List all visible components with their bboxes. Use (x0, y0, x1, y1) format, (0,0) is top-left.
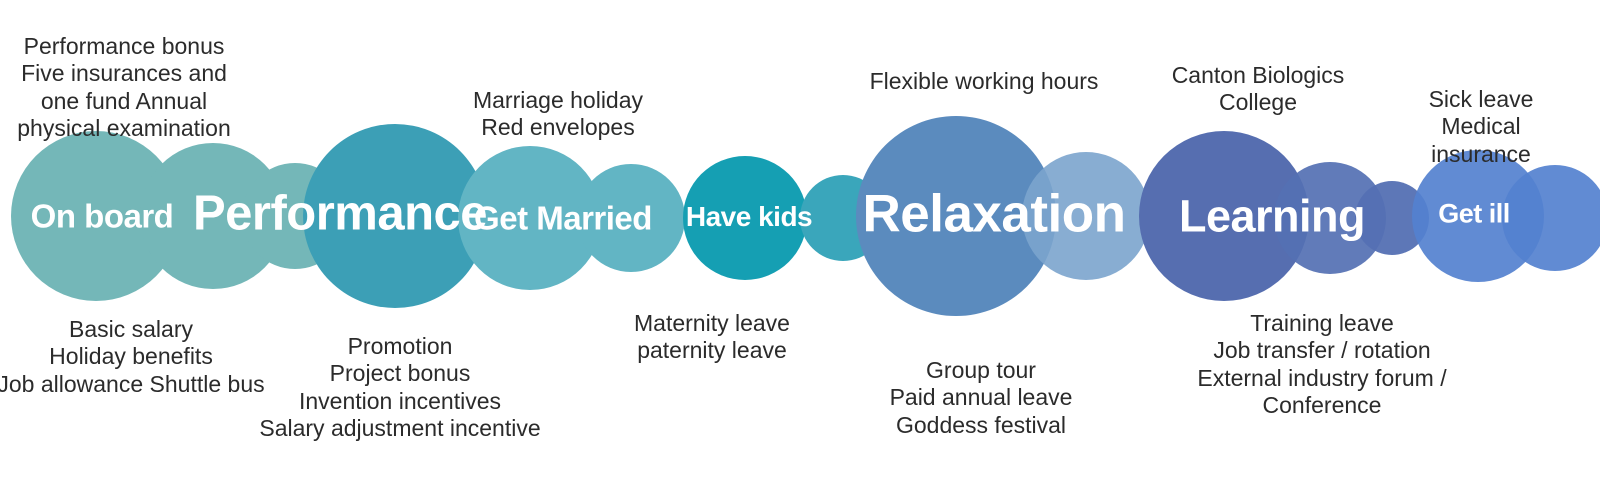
infographic-canvas: On boardPerformanceGet MarriedHave kidsR… (0, 0, 1600, 480)
stage-label-on-board: On board (31, 200, 174, 233)
note-performance-below: Promotion Project bonus Invention incent… (259, 333, 540, 442)
note-get-ill-above: Sick leave Medical insurance (1422, 86, 1541, 168)
note-relaxation-above: Flexible working hours (870, 68, 1099, 95)
stage-label-learning: Learning (1179, 194, 1365, 239)
note-learning-above: Canton Biologics College (1172, 62, 1345, 117)
stage-label-have-kids: Have kids (686, 203, 812, 231)
bubble-get-ill-small[interactable] (1502, 165, 1600, 271)
stage-label-get-married: Get Married (474, 202, 652, 235)
note-on-board-below: Basic salary Holiday benefits Job allowa… (0, 316, 265, 398)
note-learning-below: Training leave Job transfer / rotation E… (1183, 310, 1461, 419)
note-get-married-above: Marriage holiday Red envelopes (473, 87, 643, 142)
note-have-kids-below: Maternity leave paternity leave (634, 310, 790, 365)
note-on-board-above: Performance bonus Five insurances and on… (17, 33, 231, 142)
stage-label-get-ill: Get ill (1438, 201, 1510, 228)
note-relaxation-below: Group tour Paid annual leave Goddess fes… (890, 357, 1073, 439)
stage-label-relaxation: Relaxation (862, 188, 1125, 241)
stage-label-performance: Performance (193, 190, 487, 239)
